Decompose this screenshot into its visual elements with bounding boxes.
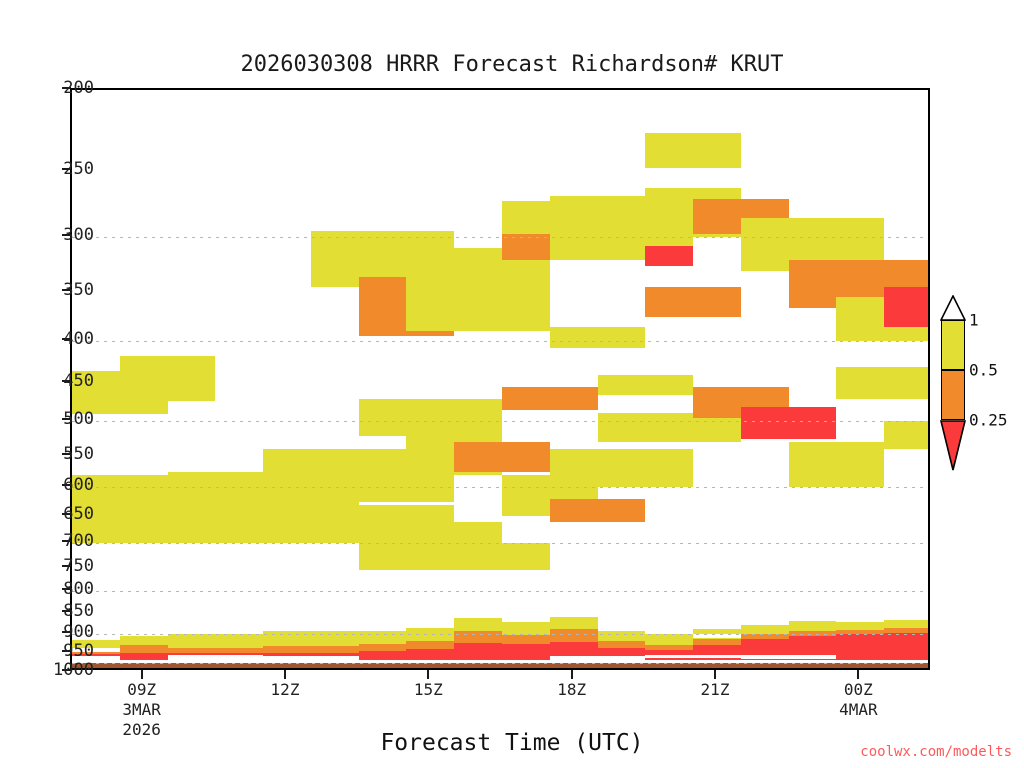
surface-red-cell: [454, 643, 502, 661]
y-tick-label-700: 700: [63, 531, 94, 551]
y-tick-label-550: 550: [63, 444, 94, 464]
heatmap-cell: [502, 387, 598, 410]
y-tick-label-600: 600: [63, 475, 94, 495]
y-tick-label-350: 350: [63, 280, 94, 300]
heatmap-cell: [120, 356, 216, 401]
surface-yellow-cell: [884, 620, 928, 628]
surface-yellow-cell: [168, 634, 264, 648]
surface-red-cell: [502, 644, 550, 660]
gridline-975: [72, 663, 928, 664]
surface-orange-cell: [120, 645, 168, 653]
surface-red-cell: [836, 634, 884, 660]
x-tick-time: 00Z: [839, 680, 878, 700]
y-tick-label-500: 500: [63, 409, 94, 429]
heatmap-cell: [884, 287, 928, 327]
surface-red-cell: [406, 649, 454, 660]
surface-yellow-cell: [598, 631, 646, 641]
chart-page: 2026030308 HRRR Forecast Richardson# KRU…: [0, 0, 1024, 768]
heatmap-cell: [645, 133, 741, 168]
surface-white-gap: [263, 656, 359, 660]
heatmap-cell: [454, 442, 550, 471]
plot-area[interactable]: [70, 88, 930, 670]
watermark: coolwx.com/modelts: [860, 744, 1012, 760]
x-tick-label-18Z: 18Z: [557, 680, 586, 700]
surface-orange-cell: [550, 629, 598, 642]
surface-white-gap: [550, 656, 646, 660]
surface-yellow-cell: [645, 634, 693, 645]
heatmap-cell: [550, 327, 646, 348]
x-tick-label-15Z: 15Z: [414, 680, 443, 700]
heatmap-cell: [550, 499, 646, 522]
y-tick-label-1000: 1000: [53, 660, 94, 680]
y-tick-label-400: 400: [63, 329, 94, 349]
heatmap-cell: [645, 287, 741, 317]
surface-yellow-cell: [836, 622, 884, 629]
heatmap-cell: [836, 367, 928, 399]
y-tick-label-650: 650: [63, 504, 94, 524]
surface-yellow-cell: [502, 622, 550, 634]
x-tick-mark: [571, 670, 573, 679]
colorbar-label-1: 1: [969, 311, 979, 330]
x-tick-mark: [284, 670, 286, 679]
gridline-400: [72, 341, 928, 342]
heatmap-cell: [789, 442, 885, 487]
y-tick-label-750: 750: [63, 556, 94, 576]
y-tick-label-900: 900: [63, 622, 94, 642]
y-tick-label-250: 250: [63, 159, 94, 179]
x-tick-date: 4MAR: [839, 700, 878, 720]
x-tick-mark: [857, 670, 859, 679]
gridline-300: [72, 237, 928, 238]
heatmap-cell: [406, 248, 549, 331]
surface-yellow-cell: [741, 625, 789, 634]
x-tick-mark: [427, 670, 429, 679]
y-tick-label-850: 850: [63, 601, 94, 621]
x-tick-time: 12Z: [271, 680, 300, 700]
x-tick-time: 18Z: [557, 680, 586, 700]
y-tick-label-200: 200: [63, 78, 94, 98]
surface-white-gap: [168, 655, 264, 660]
surface-orange-cell: [359, 644, 407, 651]
surface-red-cell: [359, 651, 407, 660]
y-tick-label-450: 450: [63, 371, 94, 391]
x-tick-date: 3MAR: [122, 700, 161, 720]
heatmap-cell: [884, 421, 928, 449]
surface-yellow-cell: [550, 617, 598, 629]
surface-red-cell: [884, 633, 928, 660]
gridline-800: [72, 591, 928, 592]
y-tick-label-800: 800: [63, 579, 94, 599]
gridline-600: [72, 487, 928, 488]
heatmap-cell: [645, 246, 693, 265]
x-tick-time: 09Z: [122, 680, 161, 700]
surface-orange-cell: [263, 646, 359, 653]
colorbar[interactable]: 10.50.25: [941, 320, 965, 470]
heatmap-cell: [598, 375, 694, 395]
gridline-500: [72, 421, 928, 422]
x-tick-label-12Z: 12Z: [271, 680, 300, 700]
x-tick-mark: [714, 670, 716, 679]
surface-white-gap: [645, 655, 741, 658]
heatmap-cell: [550, 196, 646, 222]
colorbar-label-0.5: 0.5: [969, 361, 998, 380]
colorbar-segment-1: [941, 320, 965, 370]
surface-orange-cell: [502, 635, 550, 644]
surface-yellow-cell: [789, 621, 837, 631]
heatmap-cell: [454, 543, 550, 570]
surface-orange-cell: [454, 631, 502, 643]
y-tick-label-300: 300: [63, 225, 94, 245]
chart-title: 2026030308 HRRR Forecast Richardson# KRU…: [0, 52, 1024, 77]
surface-orange-cell: [598, 641, 646, 648]
heatmap-cell: [741, 407, 837, 439]
surface-red-cell: [120, 653, 168, 661]
x-tick-time: 21Z: [701, 680, 730, 700]
surface-yellow-cell: [454, 618, 502, 630]
y-tick-label-950: 950: [63, 641, 94, 661]
x-tick-time: 15Z: [414, 680, 443, 700]
gridline-700: [72, 543, 928, 544]
heatmap-cells: [72, 90, 928, 668]
heatmap-cell: [359, 399, 502, 436]
colorbar-segment-0.5: [941, 370, 965, 420]
surface-yellow-cell: [120, 636, 168, 645]
x-tick-label-00Z: 00Z4MAR: [839, 680, 878, 720]
surface-orange-cell: [406, 641, 454, 649]
colorbar-label-0.25: 0.25: [969, 411, 1008, 430]
surface-white-gap: [741, 655, 837, 659]
gridline-900: [72, 634, 928, 635]
x-tick-label-21Z: 21Z: [701, 680, 730, 700]
x-tick-mark: [141, 670, 143, 679]
